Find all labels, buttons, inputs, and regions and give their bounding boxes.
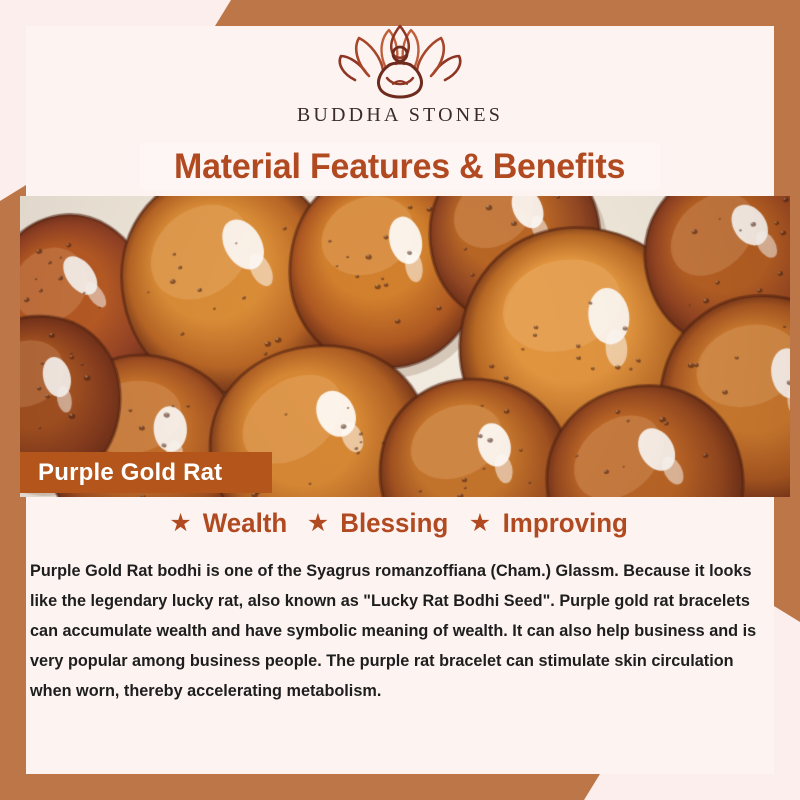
benefit-item: ★ Improving xyxy=(469,508,631,539)
frame-bar-bottom xyxy=(0,774,600,800)
title-banner: Material Features & Benefits xyxy=(140,143,660,190)
star-icon: ★ xyxy=(169,511,191,536)
benefit-label: Improving xyxy=(503,508,628,539)
lotus-meditation-figure-icon xyxy=(325,18,475,100)
infographic-page: BUDDHA STONES Material Features & Benefi… xyxy=(0,0,800,800)
benefit-item: ★ Wealth xyxy=(169,508,288,539)
brand-header: BUDDHA STONES xyxy=(0,0,800,145)
benefit-item: ★ Blessing xyxy=(307,508,451,539)
star-icon: ★ xyxy=(307,511,329,536)
benefit-label: Blessing xyxy=(340,508,448,539)
product-name-label: Purple Gold Rat xyxy=(20,452,272,493)
page-title: Material Features & Benefits xyxy=(174,147,625,187)
benefits-row: ★ Wealth ★ Blessing ★ Improving xyxy=(0,508,800,539)
benefit-label: Wealth xyxy=(203,508,287,539)
brand-name: BUDDHA STONES xyxy=(297,104,503,127)
star-icon: ★ xyxy=(469,511,491,536)
product-description: Purple Gold Rat bodhi is one of the Syag… xyxy=(30,556,765,706)
product-name-text: Purple Gold Rat xyxy=(38,459,222,487)
